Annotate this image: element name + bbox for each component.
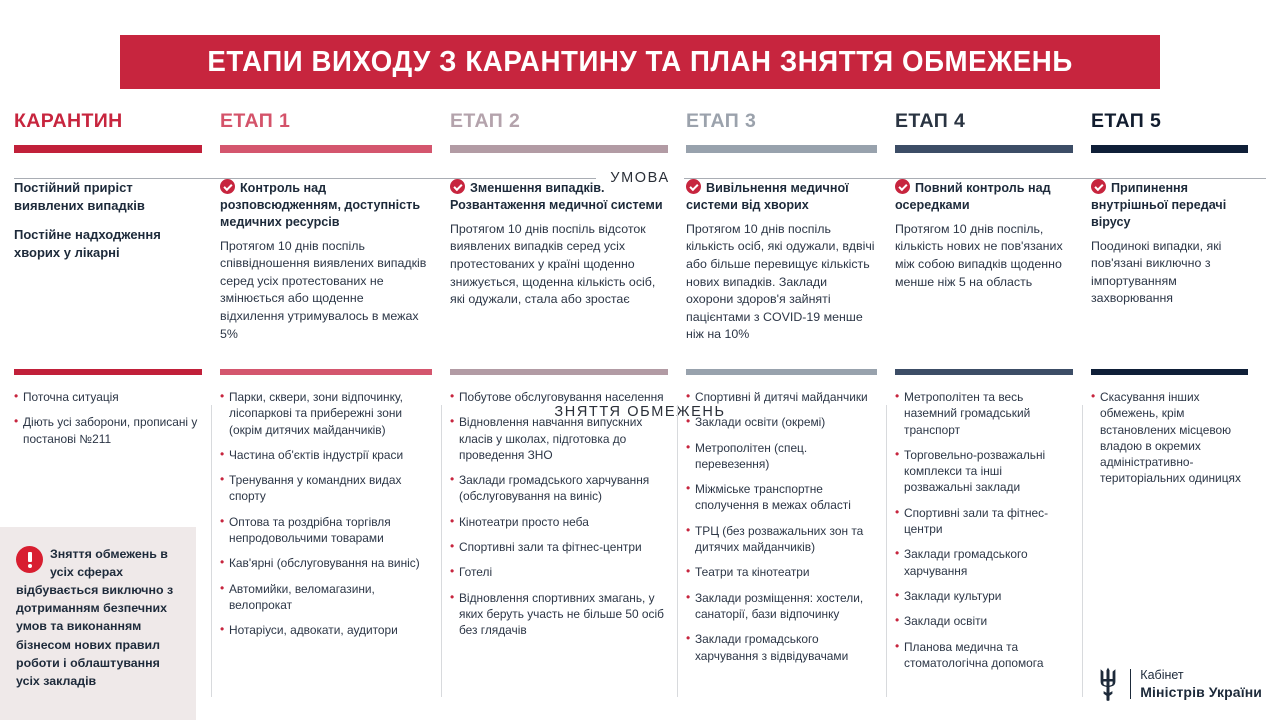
stage-name: ЕТАП 3 — [686, 105, 877, 132]
relief-block: Парки, сквери, зони відпочинку, лісопарк… — [220, 369, 450, 639]
list-item: Відновлення спортивних змагань, у яких б… — [450, 590, 668, 639]
list-item: Парки, сквери, зони відпочинку, лісопарк… — [220, 389, 432, 438]
relief-rule — [686, 369, 877, 375]
list-item: Метрополітен (спец. перевезення) — [686, 440, 877, 473]
stage-header: ЕТАП 4 — [895, 105, 1091, 157]
list-item: Заклади розміщення: хостели, санаторії, … — [686, 590, 877, 623]
list-item: Театри та кінотеатри — [686, 564, 877, 580]
relief-block: Поточна ситуаціяДіють усі заборони, проп… — [14, 369, 220, 447]
stage-header: ЕТАП 5 — [1091, 105, 1266, 157]
check-circle-icon — [686, 179, 701, 194]
condition-title: Контроль над розповсюдженням, доступніст… — [220, 179, 430, 231]
list-item: Діють усі заборони, прописані у постанов… — [14, 414, 202, 447]
logo-text: Кабінет Міністрів України — [1140, 666, 1262, 702]
relief-list: Скасування інших обмежень, крім встановл… — [1091, 389, 1248, 487]
condition-block: Контроль над розповсюдженням, доступніст… — [220, 157, 450, 369]
list-item: Готелі — [450, 564, 668, 580]
list-item: Планова медична та стоматологічна допомо… — [895, 639, 1073, 672]
stage-name: ЕТАП 5 — [1091, 105, 1248, 132]
stage-column-4: ЕТАП 3Вивільнення медичної системи від х… — [686, 105, 895, 705]
condition-title-text: Контроль над розповсюдженням, доступніст… — [220, 181, 420, 229]
list-item: Заклади культури — [895, 588, 1073, 604]
stage-column-2: ЕТАП 1Контроль над розповсюдженням, дост… — [220, 105, 450, 705]
stage-header: КАРАНТИН — [14, 105, 220, 157]
list-item: Заклади освіти (окремі) — [686, 414, 877, 430]
condition-title-text: Повний контроль над осередками — [895, 181, 1051, 212]
condition-block: Припинення внутрішньої передачі вірусуПо… — [1091, 157, 1266, 369]
relief-list: Спортивні й дитячі майданчикиЗаклади осв… — [686, 389, 877, 664]
condition-block: Вивільнення медичної системи від хворихП… — [686, 157, 895, 369]
relief-list: Метрополітен та весь наземний громадськи… — [895, 389, 1073, 671]
list-item: ТРЦ (без розважальних зон та дитячих май… — [686, 523, 877, 556]
relief-rule — [895, 369, 1073, 375]
stage-rule — [895, 145, 1073, 153]
relief-list: Поточна ситуаціяДіють усі заборони, проп… — [14, 389, 202, 447]
cabinet-of-ministers-logo: Кабінет Міністрів України — [1095, 666, 1262, 702]
list-item: Спортивні зали та фітнес-центри — [895, 505, 1073, 538]
relief-block: Побутове обслуговування населенняВідновл… — [450, 369, 686, 639]
logo-divider — [1130, 669, 1131, 699]
condition-block: Зменшення випадків. Розвантаження медичн… — [450, 157, 686, 369]
list-item: Метрополітен та весь наземний громадськи… — [895, 389, 1073, 438]
check-circle-icon — [450, 179, 465, 194]
list-item: Нотаріуси, адвокати, аудитори — [220, 622, 432, 638]
relief-block: Метрополітен та весь наземний громадськи… — [895, 369, 1091, 671]
list-item: Заклади освіти — [895, 613, 1073, 629]
list-item: Міжміське транспортне сполучення в межах… — [686, 481, 877, 514]
condition-statement: Постійне надходження хворих у лікарні — [14, 226, 200, 262]
stage-name: ЕТАП 4 — [895, 105, 1073, 132]
check-circle-icon — [1091, 179, 1106, 194]
check-circle-icon — [895, 179, 910, 194]
list-item: Торговельно-розважальні комплекси та інш… — [895, 447, 1073, 496]
stage-rule — [220, 145, 432, 153]
stage-rule — [686, 145, 877, 153]
page-title-bar: ЕТАПИ ВИХОДУ З КАРАНТИНУ ТА ПЛАН ЗНЯТТЯ … — [120, 35, 1160, 89]
list-item: Автомийки, веломагазини, велопрокат — [220, 581, 432, 614]
list-item: Відновлення навчання випускних класів у … — [450, 414, 668, 463]
ukraine-trident-icon — [1095, 667, 1121, 701]
stage-rule — [14, 145, 202, 153]
stage-column-3: ЕТАП 2Зменшення випадків. Розвантаження … — [450, 105, 686, 705]
relief-rule — [450, 369, 668, 375]
stage-rule — [450, 145, 668, 153]
condition-body: Протягом 10 днів поспіль відсоток виявле… — [450, 221, 666, 309]
logo-line-2: Міністрів України — [1140, 684, 1262, 700]
condition-title-text: Вивільнення медичної системи від хворих — [686, 181, 849, 212]
relief-block: Скасування інших обмежень, крім встановл… — [1091, 369, 1266, 487]
condition-title-text: Зменшення випадків. Розвантаження медичн… — [450, 181, 663, 212]
list-item: Поточна ситуація — [14, 389, 202, 405]
stage-column-5: ЕТАП 4Повний контроль над осередкамиПрот… — [895, 105, 1091, 705]
logo-line-1: Кабінет — [1140, 668, 1183, 682]
stage-header: ЕТАП 3 — [686, 105, 895, 157]
condition-title: Зменшення випадків. Розвантаження медичн… — [450, 179, 666, 214]
list-item: Спортивні й дитячі майданчики — [686, 389, 877, 405]
condition-body: Протягом 10 днів поспіль кількість осіб,… — [686, 221, 875, 344]
list-item: Заклади громадського харчування з відвід… — [686, 631, 877, 664]
relief-rule — [1091, 369, 1248, 375]
condition-body: Поодинокі випадки, які пов'язані виключн… — [1091, 238, 1246, 308]
page-title: ЕТАПИ ВИХОДУ З КАРАНТИНУ ТА ПЛАН ЗНЯТТЯ … — [207, 46, 1072, 79]
condition-title: Вивільнення медичної системи від хворих — [686, 179, 875, 214]
relief-list: Парки, сквери, зони відпочинку, лісопарк… — [220, 389, 432, 639]
stage-header: ЕТАП 2 — [450, 105, 686, 157]
check-circle-icon — [220, 179, 235, 194]
exclamation-icon — [16, 546, 43, 573]
relief-rule — [14, 369, 202, 375]
relief-list: Побутове обслуговування населенняВідновл… — [450, 389, 668, 639]
list-item: Заклади громадського харчування — [895, 546, 1073, 579]
list-item: Спортивні зали та фітнес-центри — [450, 539, 668, 555]
relief-block: Спортивні й дитячі майданчикиЗаклади осв… — [686, 369, 895, 664]
condition-body: Протягом 10 днів поспіль, кількість нови… — [895, 221, 1071, 291]
relief-rule — [220, 369, 432, 375]
stage-name: КАРАНТИН — [14, 105, 202, 132]
condition-statement: Постійний приріст виявлених випадків — [14, 179, 200, 215]
infographic-page: ЕТАПИ ВИХОДУ З КАРАНТИНУ ТА ПЛАН ЗНЯТТЯ … — [0, 0, 1280, 720]
stage-name: ЕТАП 1 — [220, 105, 432, 132]
warning-box: Зняття обмежень в усіх сферах відбуваєть… — [0, 527, 196, 720]
list-item: Заклади громадського харчування (обслуго… — [450, 472, 668, 505]
condition-title: Повний контроль над осередками — [895, 179, 1071, 214]
list-item: Частина об'єктів індустрії краси — [220, 447, 432, 463]
stage-name: ЕТАП 2 — [450, 105, 668, 132]
stage-header: ЕТАП 1 — [220, 105, 450, 157]
stage-column-6: ЕТАП 5Припинення внутрішньої передачі ві… — [1091, 105, 1266, 705]
list-item: Побутове обслуговування населення — [450, 389, 668, 405]
condition-body: Протягом 10 днів поспіль співвідношення … — [220, 238, 430, 344]
stage-rule — [1091, 145, 1248, 153]
list-item: Скасування інших обмежень, крім встановл… — [1091, 389, 1248, 487]
condition-block: Постійний приріст виявлених випадківПост… — [14, 157, 220, 369]
condition-title-text: Припинення внутрішньої передачі вірусу — [1091, 181, 1226, 229]
list-item: Кінотеатри просто неба — [450, 514, 668, 530]
condition-title: Припинення внутрішньої передачі вірусу — [1091, 179, 1246, 231]
list-item: Кав'ярні (обслуговування на виніс) — [220, 555, 432, 571]
condition-block: Повний контроль над осередкамиПротягом 1… — [895, 157, 1091, 369]
list-item: Тренування у командних видах спорту — [220, 472, 432, 505]
list-item: Оптова та роздрібна торгівля непродоволь… — [220, 514, 432, 547]
stage-columns: КАРАНТИНПостійний приріст виявлених випа… — [14, 105, 1266, 705]
